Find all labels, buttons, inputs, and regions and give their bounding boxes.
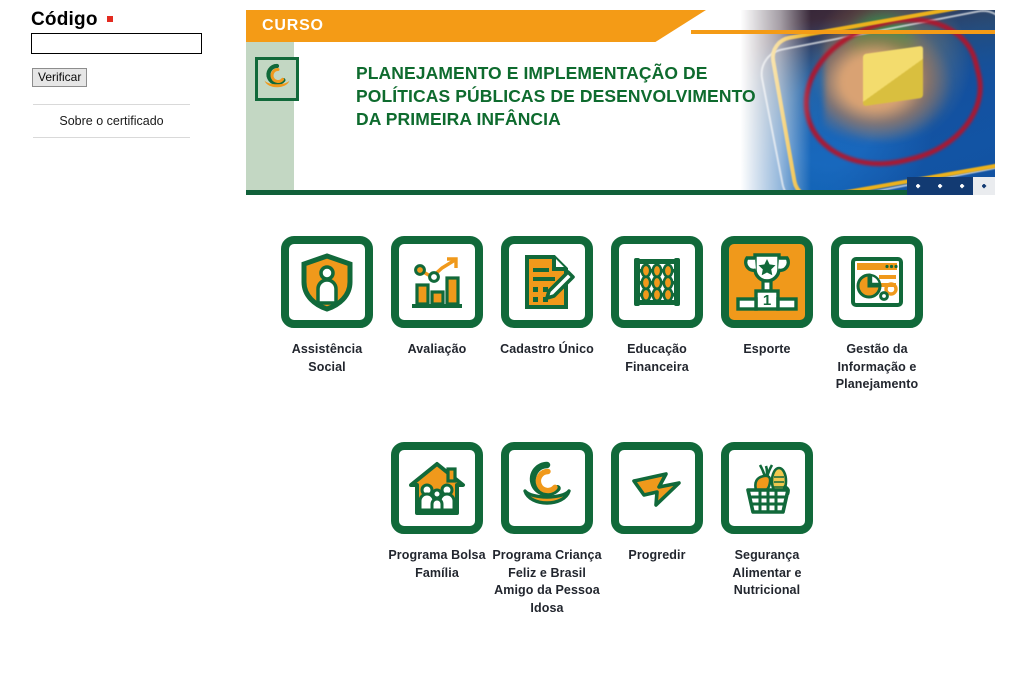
grid-item-label: Programa Criança Feliz e Brasil Amigo da… [492,547,602,617]
grid-item-label: Avaliação [382,341,492,359]
grid-item-educacao-financeira[interactable]: Educação Financeira [602,236,712,376]
document-pencil-icon[interactable] [501,236,593,328]
grid-item-label: Progredir [602,547,712,565]
grid-item-seguranca-alimentar[interactable]: Segurança Alimentar e Nutricional [712,442,822,600]
grid-item-crianca-feliz[interactable]: Programa Criança Feliz e Brasil Amigo da… [492,442,602,617]
c-swoosh-icon[interactable] [501,442,593,534]
food-basket-icon[interactable] [721,442,813,534]
svg-text:1: 1 [763,292,771,309]
grid-item-bolsa-familia[interactable]: Programa Bolsa Família [382,442,492,582]
grid-item-label: Educação Financeira [602,341,712,376]
grid-item-progredir[interactable]: Progredir [602,442,712,565]
grid-item-label: Esporte [712,341,822,359]
trophy-podium-icon[interactable]: 1 [721,236,813,328]
house-family-icon[interactable] [391,442,483,534]
bar-chart-trend-icon[interactable] [391,236,483,328]
grid-item-avaliacao[interactable]: Avaliação [382,236,492,359]
dashboard-gear-icon[interactable] [831,236,923,328]
grid-item-esporte[interactable]: 1 Esporte [712,236,822,359]
grid-item-label: Segurança Alimentar e Nutricional [712,547,822,600]
grid-item-assistencia-social[interactable]: Assistência Social [272,236,382,376]
grid-item-cadastro-unico[interactable]: Cadastro Único [492,236,602,359]
shield-person-icon[interactable] [281,236,373,328]
arrow-bird-icon[interactable] [611,442,703,534]
grid-item-label: Cadastro Único [492,341,602,359]
theme-icon-grid: Assistência Social Avaliação [0,0,1014,676]
grid-item-label: Gestão da Informação e Planejamento [822,341,932,394]
grid-item-gestao-informacao[interactable]: Gestão da Informação e Planejamento [822,236,932,394]
grid-item-label: Programa Bolsa Família [382,547,492,582]
grid-item-label: Assistência Social [272,341,382,376]
abacus-icon[interactable] [611,236,703,328]
